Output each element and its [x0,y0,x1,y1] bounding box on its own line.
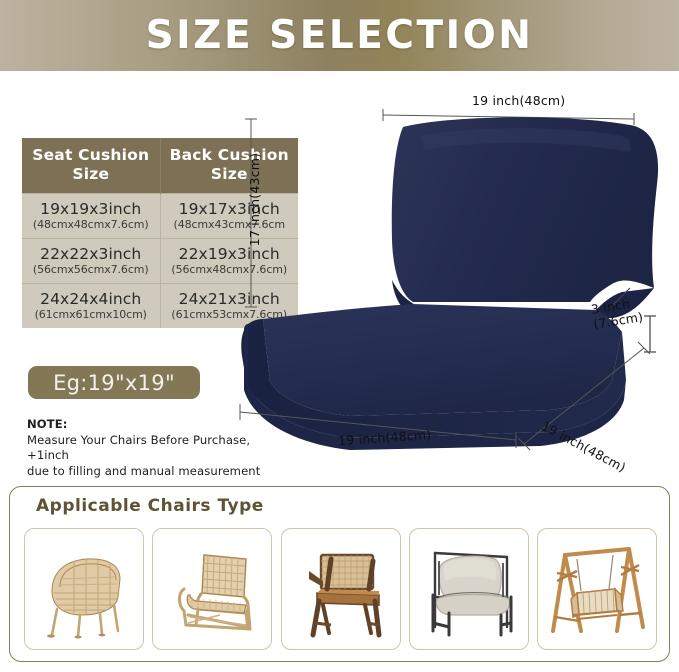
column-header-seat-line2: Size [72,165,109,183]
header-banner: SIZE SELECTION [0,0,679,71]
metal-frame-armchair-icon [415,535,523,643]
wood-cane-armchair-icon [287,535,395,643]
seat-size-inch-1: 19x19x3inch [24,200,158,218]
cell-seat-size-3: 24x24x4inch (61cmx61cmx10cm) [22,284,160,329]
example-size-label: Eg:19"x19" [53,371,175,395]
seat-size-cm-1: (48cmx48cmx7.6cm) [24,218,158,231]
column-header-seat-cushion: Seat Cushion Size [22,138,160,194]
cell-seat-size-2: 22x22x3inch (56cmx56cmx7.6cm) [22,239,160,284]
seat-size-cm-3: (61cmx61cmx10cm) [24,308,158,321]
applicable-chairs-title: Applicable Chairs Type [36,496,264,516]
applicable-chairs-panel: Applicable Chairs Type [9,486,670,662]
dimension-label-back-height: 17 inch(43cm) [247,153,262,246]
chair-thumbnail-metal-frame-cushion-armchair[interactable] [409,528,529,650]
chair-thumbnail-wood-cane-back-armchair[interactable] [281,528,401,650]
rattan-tub-chair-icon [30,535,138,643]
seat-size-inch-2: 22x22x3inch [24,245,158,263]
chair-thumbnail-wooden-porch-swing[interactable] [537,528,657,650]
chair-thumbnail-row [24,528,657,650]
chair-thumbnail-rattan-lounge-armchair[interactable] [152,528,272,650]
column-header-seat-line1: Seat Cushion [32,146,149,164]
rattan-lounge-armchair-icon [158,535,266,643]
seat-cushion-top-face [263,304,622,416]
page-title: SIZE SELECTION [146,13,534,58]
dimension-label-back-width: 19 inch(48cm) [472,93,565,108]
example-size-badge: Eg:19"x19" [28,366,200,399]
seat-size-cm-2: (56cmx56cmx7.6cm) [24,263,158,276]
cushion-illustration: 19 inch(48cm) 17 inch(43cm) 3 inch (7.6c… [230,80,679,470]
wooden-porch-swing-icon [543,535,651,643]
chair-thumbnail-rattan-tub-dining-chair[interactable] [24,528,144,650]
cell-seat-size-1: 19x19x3inch (48cmx48cmx7.6cm) [22,194,160,239]
cushion-diagram-svg [230,80,679,470]
seat-size-inch-3: 24x24x4inch [24,290,158,308]
